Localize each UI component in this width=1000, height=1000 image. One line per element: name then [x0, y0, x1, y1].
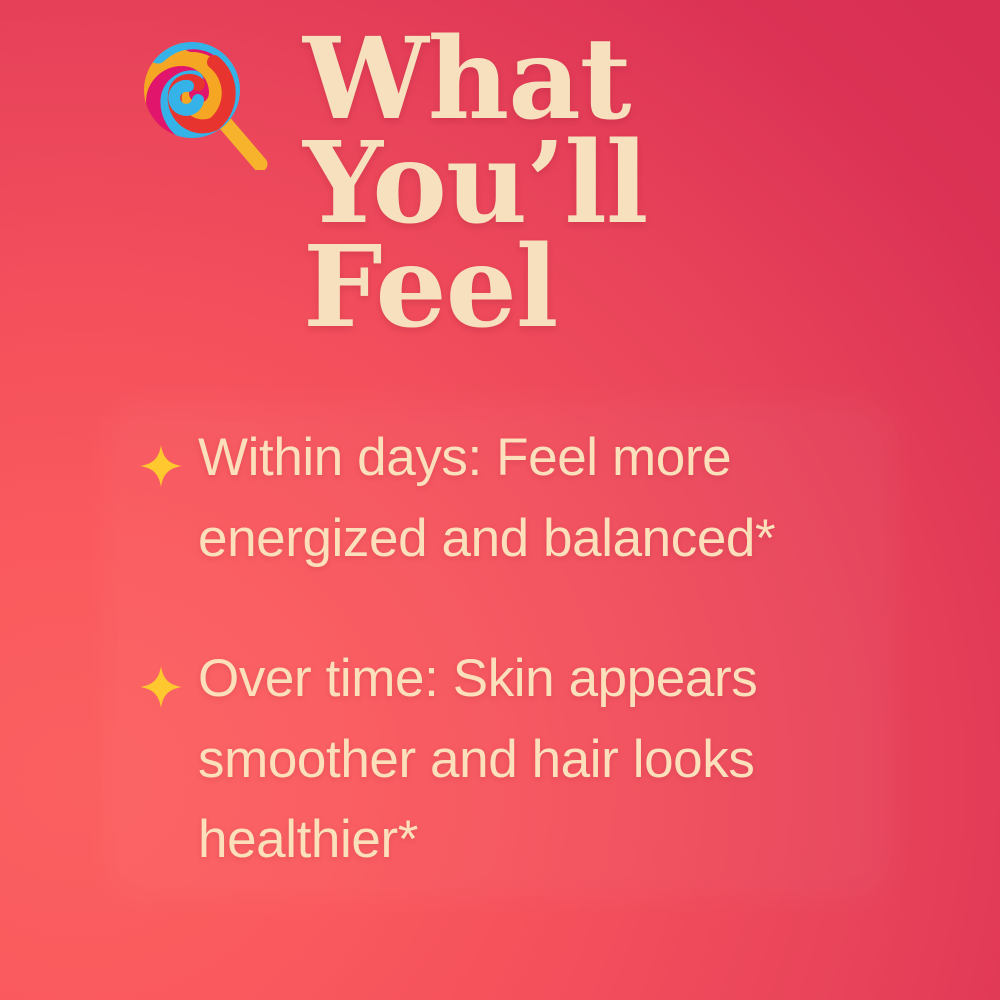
promo-card: What You’ll Feel Within days: Feel more …: [0, 0, 1000, 1000]
page-title: What You’ll Feel: [303, 28, 943, 340]
list-item: Over time: Skin appears smoother and hai…: [136, 639, 966, 881]
list-item-label: Within days: Feel more energized and bal…: [198, 418, 966, 579]
sparkle-star-icon: [140, 430, 182, 472]
sparkle-star-icon: [140, 651, 182, 693]
benefits-list: Within days: Feel more energized and bal…: [136, 418, 966, 881]
lollipop-icon: [136, 38, 268, 170]
list-item: Within days: Feel more energized and bal…: [136, 418, 966, 579]
title-line-3: Feel: [303, 236, 943, 340]
title-line-2: You’ll: [303, 132, 943, 236]
title-line-1: What: [303, 28, 943, 132]
list-item-label: Over time: Skin appears smoother and hai…: [198, 639, 966, 881]
